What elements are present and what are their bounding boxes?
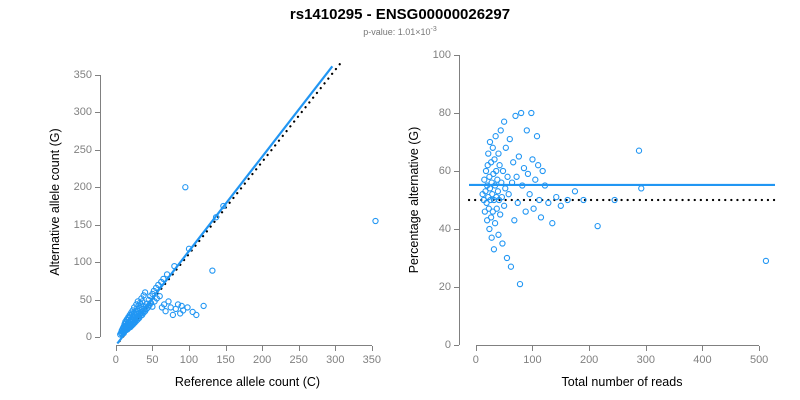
data-point [497, 163, 502, 168]
data-point [494, 206, 499, 211]
data-point [491, 247, 496, 252]
data-point [485, 163, 490, 168]
data-point [636, 148, 641, 153]
data-point [512, 218, 517, 223]
data-point [517, 282, 522, 287]
data-point [537, 197, 542, 202]
data-point [533, 177, 538, 182]
data-point [529, 110, 534, 115]
data-point [521, 166, 526, 171]
data-point [498, 128, 503, 133]
y-tick [454, 113, 459, 114]
x-tick-label: 400 [693, 354, 711, 366]
data-point [498, 212, 503, 217]
data-point [558, 203, 563, 208]
data-point [540, 168, 545, 173]
data-point [531, 206, 536, 211]
x-tick-label: 0 [473, 354, 479, 366]
y-tick-label: 20 [417, 281, 451, 293]
data-point [483, 168, 488, 173]
y-tick [454, 287, 459, 288]
data-point [536, 163, 541, 168]
figure-root: rs1410295 - ENSG00000026297 p-value: 1.0… [0, 0, 800, 400]
data-point [493, 134, 498, 139]
x-tick-label: 100 [523, 354, 541, 366]
data-point [496, 151, 501, 156]
data-point [504, 255, 509, 260]
data-point [530, 157, 535, 162]
y-tick-label: 0 [417, 339, 451, 351]
data-point [500, 168, 505, 173]
data-point [496, 232, 501, 237]
data-point [524, 128, 529, 133]
x-tick-label: 200 [580, 354, 598, 366]
data-point [513, 113, 518, 118]
data-point [489, 160, 494, 165]
data-point [523, 209, 528, 214]
data-point [763, 258, 768, 263]
data-point [639, 186, 644, 191]
data-point [503, 186, 508, 191]
data-point [486, 151, 491, 156]
data-point [595, 224, 600, 229]
data-point [495, 189, 500, 194]
data-point [511, 160, 516, 165]
data-point [482, 177, 487, 182]
data-point [490, 145, 495, 150]
y-tick [454, 229, 459, 230]
data-point [514, 174, 519, 179]
data-point [506, 192, 511, 197]
y-tick-label: 60 [417, 165, 451, 177]
data-point [527, 192, 532, 197]
x-axis-title: Total number of reads [562, 375, 683, 389]
data-point [507, 137, 512, 142]
data-point [489, 235, 494, 240]
y-tick [454, 345, 459, 346]
y-tick-label: 80 [417, 107, 451, 119]
panel-right-scatter: 0100200300400500020406080100Total number… [0, 0, 800, 400]
data-point [538, 215, 543, 220]
data-point [487, 226, 492, 231]
data-point [492, 157, 497, 162]
y-axis-line [459, 55, 460, 345]
y-tick-label: 100 [417, 49, 451, 61]
data-point [516, 154, 521, 159]
data-layer [469, 55, 777, 347]
data-point [572, 189, 577, 194]
data-point [492, 221, 497, 226]
y-axis-title: Percentage alternative (G) [407, 127, 421, 274]
data-point [502, 203, 507, 208]
data-point [503, 145, 508, 150]
data-point [508, 264, 513, 269]
y-tick [454, 55, 459, 56]
data-point [519, 110, 524, 115]
data-point [554, 195, 559, 200]
data-point [500, 241, 505, 246]
data-point [534, 134, 539, 139]
data-point [502, 119, 507, 124]
x-tick-label: 500 [750, 354, 768, 366]
data-point [505, 174, 510, 179]
data-point [525, 171, 530, 176]
data-point [550, 221, 555, 226]
data-point [489, 215, 494, 220]
data-point [487, 139, 492, 144]
x-tick-label: 300 [637, 354, 655, 366]
y-tick-label: 40 [417, 223, 451, 235]
y-tick [454, 171, 459, 172]
